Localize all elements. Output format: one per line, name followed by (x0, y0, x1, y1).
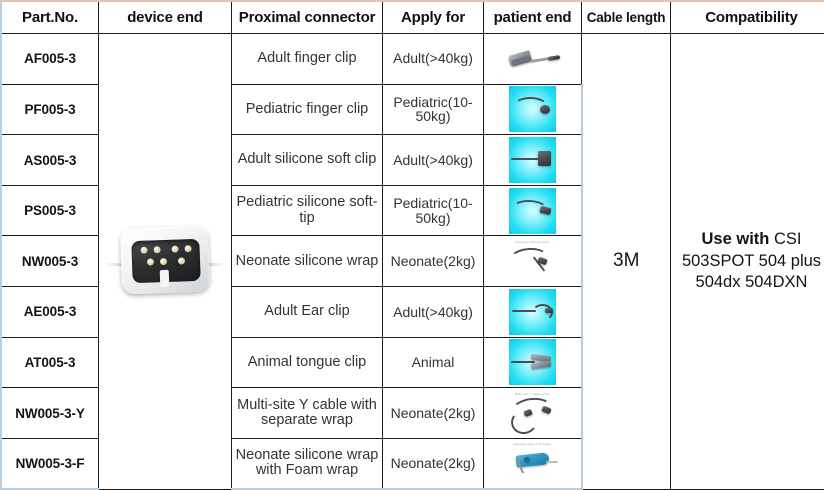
cell-part-no: NW005-3 (1, 236, 99, 287)
cell-proximal-connector: Neonate silicone wrap with Foam wrap (232, 438, 383, 489)
cell-apply-for: Neonate(2kg) (383, 236, 484, 287)
column-header-cable-length: Cable length (582, 1, 671, 34)
cell-patient-end: Multi-site Y cable wrap (484, 388, 582, 439)
adult-finger-clip-sensor-icon (503, 36, 563, 82)
cell-proximal-connector: Multi-site Y cable with separate wrap (232, 388, 383, 439)
column-header-proximal-connector: Proximal connector (232, 1, 383, 34)
spo2-sensor-spec-table: Part.No. device end Proximal connector A… (0, 0, 824, 490)
cell-proximal-connector: Pediatric silicone soft-tip (232, 185, 383, 236)
cell-part-no: NW005-3-F (1, 438, 99, 489)
table-row: AF005-3 Adult (1, 34, 824, 85)
table-header: Part.No. device end Proximal connector A… (1, 1, 824, 34)
cell-patient-end (484, 287, 582, 338)
cell-part-no: NW005-3-Y (1, 388, 99, 439)
cell-proximal-connector: Pediatric finger clip (232, 84, 383, 135)
cell-proximal-connector: Animal tongue clip (232, 337, 383, 388)
cell-part-no: AF005-3 (1, 34, 99, 85)
cell-part-no: PS005-3 (1, 185, 99, 236)
cell-patient-end (484, 185, 582, 236)
neonate-silicone-wrap-sensor-icon: Neonate silicone wrap (502, 238, 562, 284)
column-header-device-end: device end (99, 1, 232, 34)
animal-tongue-clip-sensor-icon (509, 339, 556, 385)
device-end-connector-icon (119, 223, 211, 299)
multi-site-y-cable-sensor-icon: Multi-site Y cable wrap (502, 390, 562, 436)
adult-silicone-soft-clip-sensor-icon (509, 137, 556, 183)
cell-apply-for: Adult(>40kg) (383, 135, 484, 186)
cell-apply-for: Neonate(2kg) (383, 388, 484, 439)
cell-patient-end: Neonate silicone wrap (484, 236, 582, 287)
column-header-compatibility: Compatibility (671, 1, 824, 34)
column-header-apply-for: Apply for (383, 1, 484, 34)
header-row: Part.No. device end Proximal connector A… (1, 1, 824, 34)
cell-part-no: AS005-3 (1, 135, 99, 186)
pediatric-finger-clip-sensor-icon (509, 86, 556, 132)
cell-proximal-connector: Adult finger clip (232, 34, 383, 85)
cell-part-no: AT005-3 (1, 337, 99, 388)
cell-proximal-connector: Adult silicone soft clip (232, 135, 383, 186)
compatibility-brand: CSI (774, 230, 802, 248)
cell-apply-for: Adult(>40kg) (383, 287, 484, 338)
cell-apply-for: Pediatric(10-50kg) (383, 84, 484, 135)
pediatric-silicone-soft-tip-sensor-icon (509, 188, 556, 234)
cell-apply-for: Neonate(2kg) (383, 438, 484, 489)
cell-part-no: PF005-3 (1, 84, 99, 135)
cell-proximal-connector: Neonate silicone wrap (232, 236, 383, 287)
cell-cable-length: 3M (582, 34, 671, 490)
cell-apply-for: Adult(>40kg) (383, 34, 484, 85)
cell-proximal-connector: Adult Ear clip (232, 287, 383, 338)
column-header-part-no: Part.No. (1, 1, 99, 34)
cell-patient-end (484, 34, 582, 85)
cell-patient-end (484, 337, 582, 388)
cell-apply-for: Pediatric(10-50kg) (383, 185, 484, 236)
cell-device-end (99, 34, 232, 490)
compatibility-lead: Use with (702, 230, 770, 248)
cell-patient-end (484, 135, 582, 186)
cell-part-no: AE005-3 (1, 287, 99, 338)
adult-ear-clip-sensor-icon (509, 289, 556, 335)
neonate-foam-wrap-sensor-icon: Neonate wrap with Foam (502, 440, 562, 486)
cell-apply-for: Animal (383, 337, 484, 388)
column-header-patient-end: patient end (484, 1, 582, 34)
compatibility-line3: 504dx 504DXN (696, 273, 808, 291)
cell-patient-end (484, 84, 582, 135)
cell-patient-end: Neonate wrap with Foam (484, 438, 582, 489)
compatibility-line2: 503SPOT 504 plus (682, 252, 821, 270)
table-body: AF005-3 Adult (1, 34, 824, 490)
cell-compatibility: Use with CSI 503SPOT 504 plus 504dx 504D… (671, 34, 824, 490)
